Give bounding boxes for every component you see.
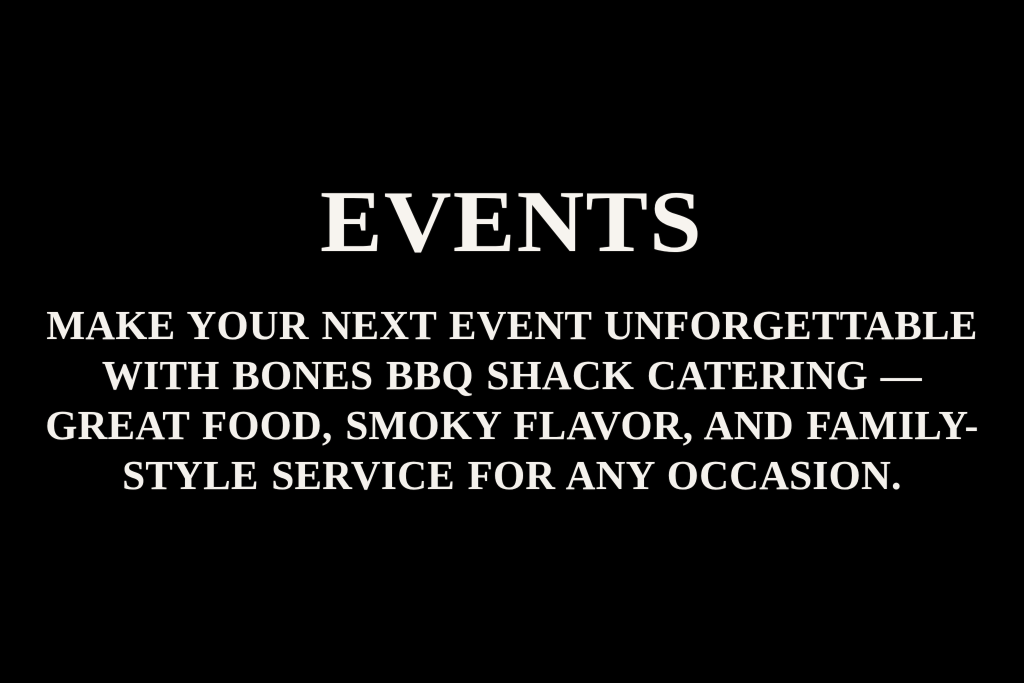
banner-description-line: GREAT FOOD, SMOKY FLAVOR, AND FAMILY- xyxy=(12,400,1012,450)
banner-description-container: MAKE YOUR NEXT EVENT UNFORGETTABLE WITH … xyxy=(12,300,1012,500)
banner-description-line: MAKE YOUR NEXT EVENT UNFORGETTABLE xyxy=(12,300,1012,350)
events-banner: EVENTS MAKE YOUR NEXT EVENT UNFORGETTABL… xyxy=(0,0,1024,683)
page-title: EVENTS xyxy=(321,186,704,260)
banner-description: MAKE YOUR NEXT EVENT UNFORGETTABLE WITH … xyxy=(12,300,1012,500)
banner-description-line: STYLE SERVICE FOR ANY OCCASION. xyxy=(12,450,1012,500)
banner-description-line: WITH BONES BBQ SHACK CATERING — xyxy=(12,350,1012,400)
page-title-container: EVENTS xyxy=(0,186,1024,260)
